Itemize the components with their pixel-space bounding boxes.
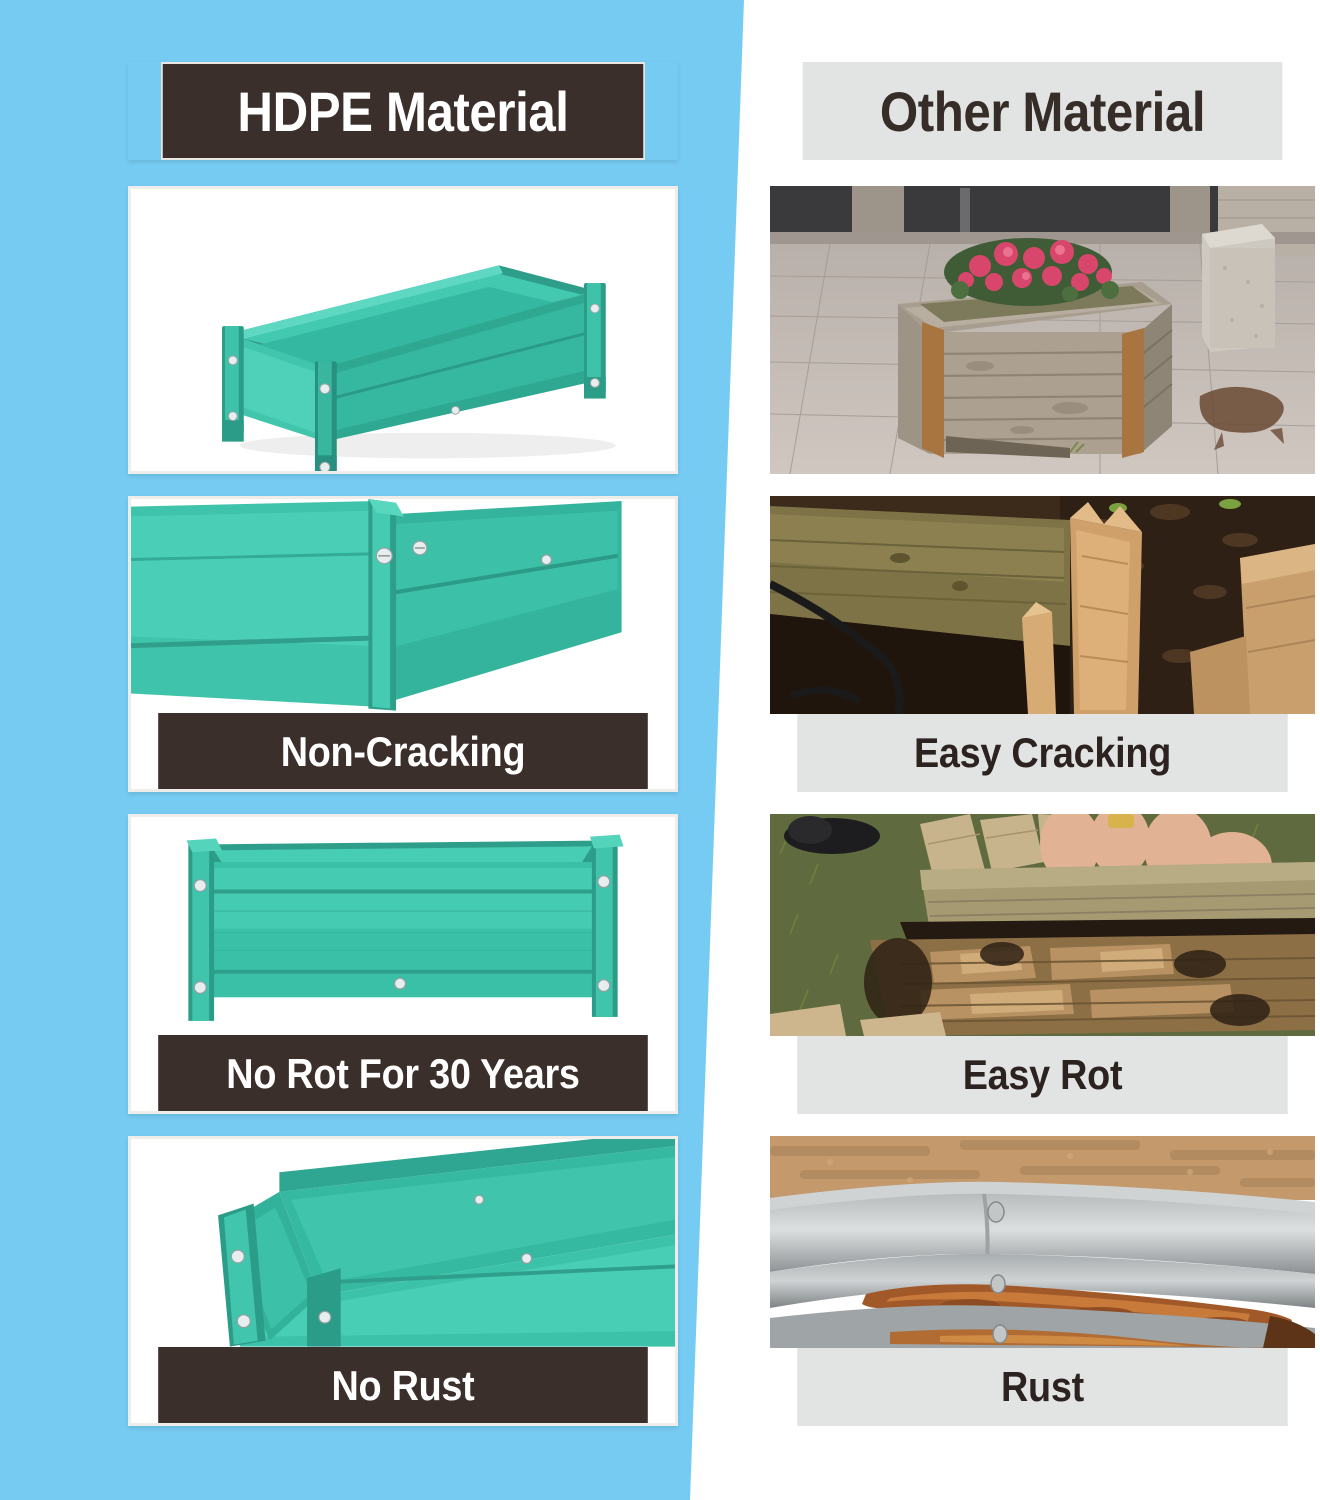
cracked-wood-raised-bed <box>770 496 1315 714</box>
right-caption-3: Easy Rot <box>770 1036 1315 1114</box>
right-card-2[interactable]: Easy Cracking <box>770 496 1315 792</box>
right-column-other: Other Material <box>770 0 1315 1426</box>
right-card-1[interactable] <box>770 186 1315 474</box>
left-caption-2-label: Non-Cracking <box>158 713 648 789</box>
left-caption-3-label: No Rot For 30 Years <box>158 1035 648 1111</box>
left-column-header-label: HDPE Material <box>161 62 645 160</box>
hdpe-planter-box-full-view <box>131 189 675 471</box>
right-card-3[interactable]: Easy Rot <box>770 814 1315 1114</box>
left-card-3[interactable]: No Rot For 30 Years <box>128 814 678 1114</box>
right-card-4[interactable]: Rust <box>770 1136 1315 1426</box>
weathered-wood-planter-plaza <box>770 186 1315 474</box>
rotted-wood-beam <box>770 814 1315 1036</box>
left-caption-3: No Rot For 30 Years <box>131 1035 675 1111</box>
left-caption-4: No Rust <box>131 1347 675 1423</box>
right-caption-4: Rust <box>770 1348 1315 1426</box>
left-column-hdpe: HDPE Material <box>128 0 678 1426</box>
left-card-1[interactable] <box>128 186 678 474</box>
hdpe-planter-interior-view <box>131 1139 675 1347</box>
comparison-infographic: HDPE Material <box>0 0 1320 1500</box>
hdpe-corner-closeup <box>131 499 675 713</box>
left-column-header: HDPE Material <box>128 62 678 160</box>
right-caption-3-label: Easy Rot <box>797 1036 1288 1114</box>
left-card-2[interactable]: Non-Cracking <box>128 496 678 792</box>
hdpe-planter-front-view <box>131 817 675 1035</box>
right-column-header-label: Other Material <box>803 62 1283 160</box>
left-caption-2: Non-Cracking <box>131 713 675 789</box>
left-card-4[interactable]: No Rust <box>128 1136 678 1426</box>
right-caption-4-label: Rust <box>797 1348 1288 1426</box>
right-column-header: Other Material <box>770 62 1315 160</box>
rusted-metal-panel <box>770 1136 1315 1348</box>
right-caption-2-label: Easy Cracking <box>797 714 1288 792</box>
left-caption-4-label: No Rust <box>158 1347 648 1423</box>
right-caption-2: Easy Cracking <box>770 714 1315 792</box>
